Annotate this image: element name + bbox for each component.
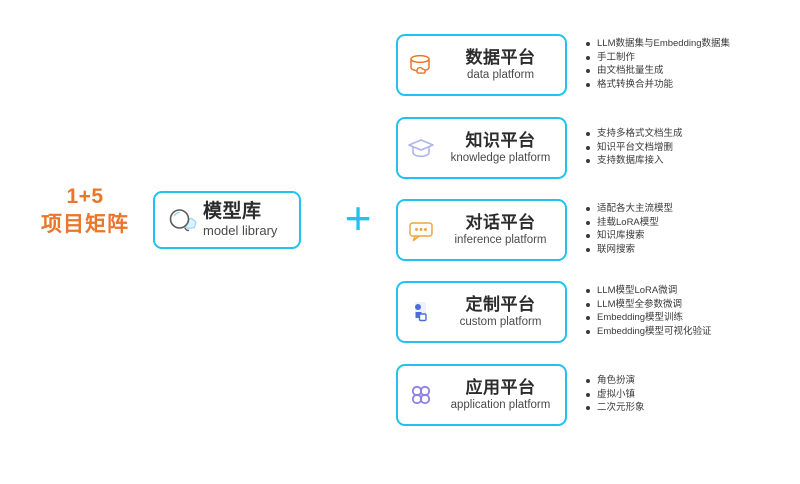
feature-item: 适配各大主流模型	[586, 202, 673, 216]
feature-item: 联网搜索	[586, 243, 673, 257]
platform-title-cn: 应用平台	[442, 379, 559, 397]
sphere-hexagon-icon	[165, 203, 199, 237]
platform-title-cn: 知识平台	[442, 132, 559, 150]
platform-card-custom[interactable]: 定制平台 custom platform	[396, 281, 567, 343]
platform-row-custom: 定制平台 custom platform LLM模型LoRA微调 LLM模型全参…	[396, 281, 792, 345]
platform-title-en: data platform	[442, 69, 559, 81]
feature-item: 格式转换合并功能	[586, 78, 730, 92]
platform-card-knowledge[interactable]: 知识平台 knowledge platform	[396, 117, 567, 179]
graduation-cap-icon	[406, 133, 436, 163]
feature-list-data: LLM数据集与Embedding数据集 手工制作 由文档批量生成 格式转换合并功…	[586, 37, 730, 91]
platform-title-cn: 数据平台	[442, 49, 559, 67]
headline-line-2: 项目矩阵	[20, 211, 150, 239]
feature-item: 挂载LoRA模型	[586, 216, 673, 230]
platform-row-data: 数据平台 data platform LLM数据集与Embedding数据集 手…	[396, 34, 792, 98]
four-circles-grid-icon	[406, 380, 436, 410]
model-library-title-cn: 模型库	[203, 201, 262, 222]
platform-title-cn: 对话平台	[442, 214, 559, 232]
feature-list-application: 角色扮演 虚拟小镇 二次元形象	[586, 374, 645, 415]
feature-list-inference: 适配各大主流模型 挂载LoRA模型 知识库搜索 联网搜索	[586, 202, 673, 256]
platform-card-data[interactable]: 数据平台 data platform	[396, 34, 567, 96]
platform-title-en: custom platform	[442, 316, 559, 328]
platform-title-cn: 定制平台	[442, 296, 559, 314]
headline-line-1: 1+5	[20, 183, 150, 211]
speech-bubble-icon	[406, 215, 436, 245]
platform-title-en: knowledge platform	[442, 152, 559, 164]
platform-title-en: application platform	[442, 399, 559, 411]
platform-row-application: 应用平台 application platform 角色扮演 虚拟小镇 二次元形…	[396, 364, 792, 428]
feature-list-knowledge: 支持多格式文档生成 知识平台文档增删 支持数据库接入	[586, 127, 683, 168]
feature-list-custom: LLM模型LoRA微调 LLM模型全参数微调 Embedding模型训练 Emb…	[586, 284, 712, 338]
model-library-card[interactable]: 模型库 model library	[153, 191, 301, 249]
feature-item: Embedding模型训练	[586, 311, 712, 325]
feature-item: LLM数据集与Embedding数据集	[586, 37, 730, 51]
feature-item: 由文档批量生成	[586, 64, 730, 78]
database-cloud-icon	[406, 50, 436, 80]
feature-item: 虚拟小镇	[586, 388, 645, 402]
plus-connector-icon: +	[338, 196, 378, 240]
feature-item: 角色扮演	[586, 374, 645, 388]
model-library-title-en: model library	[203, 224, 277, 238]
platform-row-inference: 对话平台 inference platform 适配各大主流模型 挂载LoRA模…	[396, 199, 792, 263]
tuning-blocks-icon	[406, 297, 436, 327]
feature-item: Embedding模型可视化验证	[586, 325, 712, 339]
feature-item: 知识库搜索	[586, 229, 673, 243]
platform-card-application[interactable]: 应用平台 application platform	[396, 364, 567, 426]
platform-title-en: inference platform	[442, 234, 559, 246]
feature-item: 支持数据库接入	[586, 154, 683, 168]
feature-item: LLM模型LoRA微调	[586, 284, 712, 298]
feature-item: 二次元形象	[586, 401, 645, 415]
feature-item: 知识平台文档增删	[586, 141, 683, 155]
platform-card-inference[interactable]: 对话平台 inference platform	[396, 199, 567, 261]
matrix-headline: 1+5 项目矩阵	[20, 183, 150, 238]
platform-row-knowledge: 知识平台 knowledge platform 支持多格式文档生成 知识平台文档…	[396, 117, 792, 181]
feature-item: 支持多格式文档生成	[586, 127, 683, 141]
feature-item: 手工制作	[586, 51, 730, 65]
feature-item: LLM模型全参数微调	[586, 298, 712, 312]
